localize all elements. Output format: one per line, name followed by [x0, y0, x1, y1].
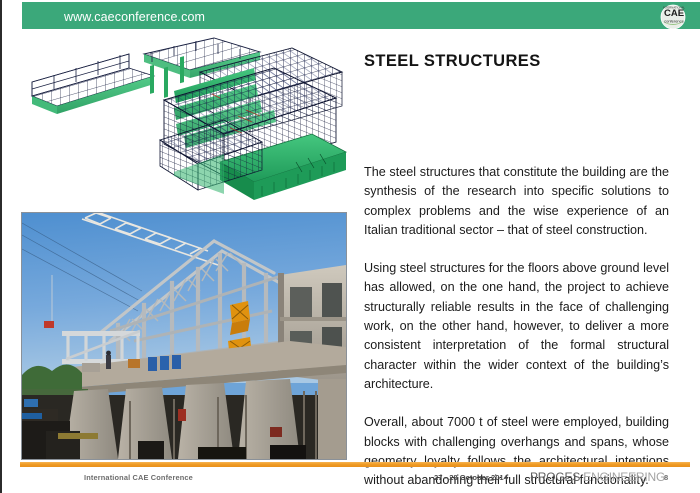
svg-text:CAE: CAE — [664, 8, 684, 19]
cae-logo-icon: CAE conference INTERNATIONAL — [654, 3, 690, 31]
footer-brand-strong: PROGES — [530, 470, 580, 484]
header-website-url[interactable]: www.caeconference.com — [64, 10, 205, 24]
footer-conference-name: International CAE Conference — [84, 473, 193, 482]
footer-page-number: 8 — [664, 473, 668, 482]
body-text-column: The steel structures that constitute the… — [364, 163, 669, 490]
header-bar: CAE conference INTERNATIONAL www.caeconf… — [22, 2, 700, 29]
svg-text:INTERNATIONAL: INTERNATIONAL — [663, 6, 686, 10]
paragraph-2: Using steel structures for the floors ab… — [364, 259, 669, 394]
paragraph-1: The steel structures that constitute the… — [364, 163, 669, 240]
cad-model-figure — [24, 36, 354, 206]
footer-divider-rule — [20, 462, 690, 467]
construction-site-photo — [21, 212, 347, 460]
svg-text:conference: conference — [664, 19, 685, 24]
footer-brand: PROGES ENGINEERING — [530, 470, 665, 484]
footer-date: 27 - 28 October 2014 — [434, 473, 508, 482]
footer-brand-light: ENGINEERING — [580, 470, 665, 484]
page-title: STEEL STRUCTURES — [364, 52, 541, 71]
presentation-slide: CAE conference INTERNATIONAL www.caeconf… — [0, 0, 700, 493]
